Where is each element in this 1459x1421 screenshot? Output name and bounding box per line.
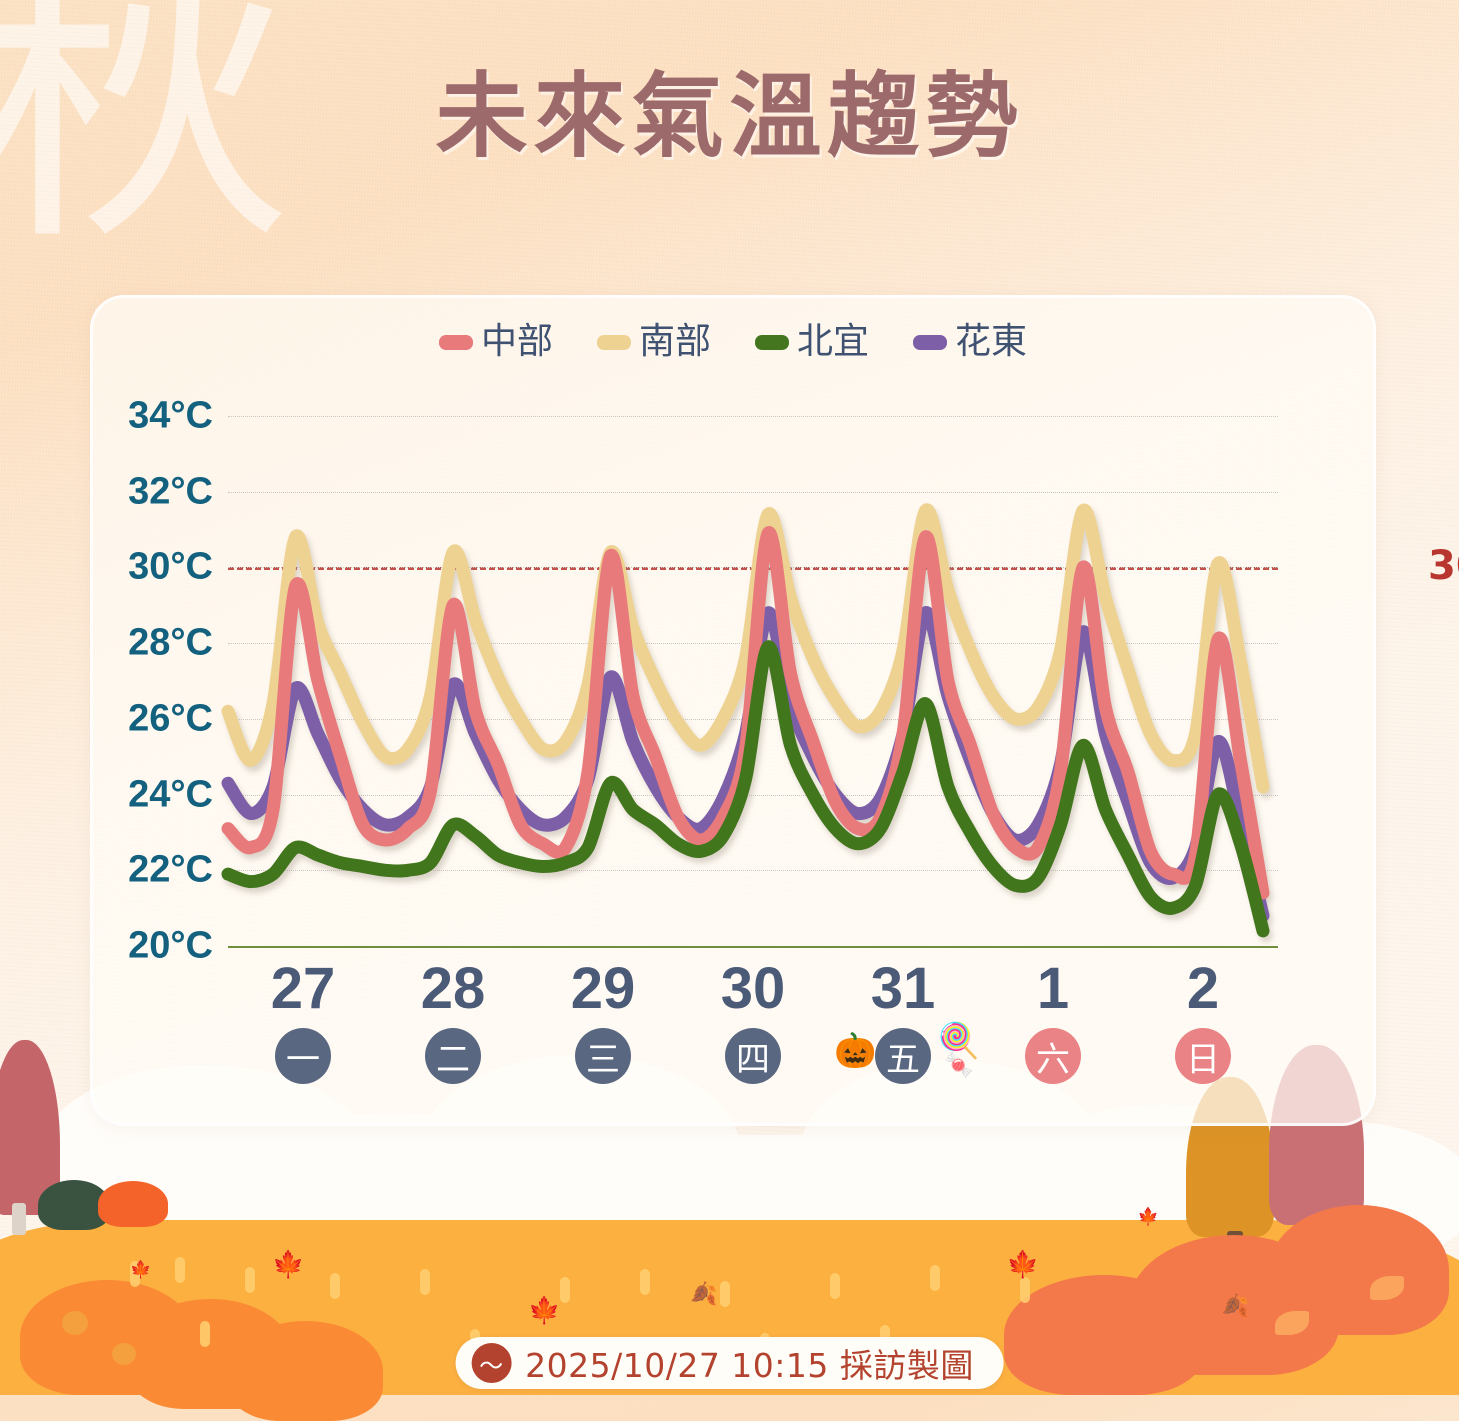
legend-item-0[interactable]: 中部	[439, 324, 553, 360]
y-axis-tick-34: 34°C	[128, 395, 213, 438]
cloud-shape	[1000, 1105, 1330, 1265]
weekday-badge: 六	[1025, 1028, 1081, 1084]
leaf-speck	[1275, 1311, 1309, 1335]
legend-swatch-icon	[439, 335, 473, 350]
legend-swatch-icon	[755, 335, 789, 350]
footer-timestamp: 2025/10/27 10:15 採訪製圖	[525, 1339, 974, 1387]
tree-trunk	[12, 1203, 26, 1235]
x-axis-baseline	[228, 946, 1278, 948]
weekday-badge-wrap: 一	[228, 1020, 378, 1084]
candy-icon: 🍬	[944, 1054, 974, 1078]
plot-area: 30℃	[228, 416, 1278, 946]
x-axis-day-31[interactable]: 31🎃五🍭🍬	[828, 958, 978, 1084]
x-axis-day-number: 27	[228, 958, 378, 1020]
grass-stroke	[560, 1277, 570, 1303]
cwa-logo-icon: 〜	[471, 1343, 511, 1383]
legend-label: 中部	[481, 324, 553, 360]
x-axis-day-number: 1	[978, 958, 1128, 1020]
tree-trunk	[1227, 1231, 1243, 1265]
bush-orange	[98, 1181, 168, 1227]
y-axis-tick-22: 22°C	[128, 849, 213, 892]
weekday-badge-wrap: 日	[1128, 1020, 1278, 1084]
maple-leaf-icon: 🍁	[528, 1297, 560, 1323]
grass-stroke	[1020, 1277, 1030, 1303]
legend-label: 南部	[639, 324, 711, 360]
legend-item-3[interactable]: 花東	[913, 324, 1027, 360]
weekday-badge-wrap: 🎃五🍭🍬	[828, 1020, 978, 1084]
grass-stroke	[245, 1267, 255, 1293]
maple-leaf-icon: 🍁	[1138, 1204, 1159, 1230]
bush-green	[38, 1180, 110, 1230]
weekday-badge-wrap: 四	[678, 1020, 828, 1084]
maple-leaf-icon: 🍁	[272, 1251, 304, 1277]
x-axis-day-29[interactable]: 29三	[528, 958, 678, 1084]
weekday-badge-wrap: 三	[528, 1020, 678, 1084]
x-axis-day-28[interactable]: 28二	[378, 958, 528, 1084]
legend-label: 北宜	[797, 324, 869, 360]
tree-maroon	[0, 1040, 60, 1215]
leaf-speck	[1370, 1276, 1404, 1300]
grass-stroke	[830, 1273, 840, 1299]
x-axis-day-27[interactable]: 27一	[228, 958, 378, 1084]
legend-swatch-icon	[913, 335, 947, 350]
grass-stroke	[720, 1281, 730, 1307]
weekday-badge: 一	[275, 1028, 331, 1084]
weekday-badge: 五	[875, 1028, 931, 1084]
grass-stroke	[930, 1265, 940, 1291]
grass-stroke	[130, 1261, 140, 1287]
footer-badge: 〜 2025/10/27 10:15 採訪製圖	[455, 1337, 1004, 1389]
weekday-badge: 三	[575, 1028, 631, 1084]
cloud-shape	[260, 1135, 980, 1275]
foliage-mound	[228, 1321, 383, 1421]
weekday-badge-wrap: 二	[378, 1020, 528, 1084]
foliage-mound	[1269, 1205, 1449, 1335]
foliage-mound	[1129, 1235, 1339, 1375]
y-axis-tick-30: 30°C	[128, 546, 213, 589]
cloud-shape	[1180, 1120, 1459, 1270]
reference-line-label: 30℃	[1428, 544, 1459, 590]
ginkgo-leaf-icon: 🍂	[690, 1283, 717, 1305]
x-axis-day-number: 30	[678, 958, 828, 1020]
chart-card: 中部南部北宜花東 34°C32°C30°C28°C26°C24°C22°C20°…	[90, 295, 1376, 1126]
y-axis-tick-28: 28°C	[128, 622, 213, 665]
x-axis-day-1[interactable]: 1六	[978, 958, 1128, 1084]
foliage-mound	[1004, 1275, 1204, 1395]
x-axis: 27一28二29三30四31🎃五🍭🍬1六2日	[228, 958, 1278, 1108]
x-axis-day-number: 29	[528, 958, 678, 1020]
legend-swatch-icon	[597, 335, 631, 350]
leaf-speck	[62, 1311, 88, 1335]
legend-item-2[interactable]: 北宜	[755, 324, 869, 360]
grass-stroke	[200, 1321, 210, 1347]
page-title: 未來氣溫趨勢	[0, 42, 1459, 175]
weekday-badge: 二	[425, 1028, 481, 1084]
legend-item-1[interactable]: 南部	[597, 324, 711, 360]
legend-label: 花東	[955, 324, 1027, 360]
foliage-mound	[20, 1280, 195, 1395]
x-axis-day-30[interactable]: 30四	[678, 958, 828, 1084]
x-axis-day-number: 28	[378, 958, 528, 1020]
ginkgo-leaf-icon: 🍂	[1222, 1295, 1249, 1317]
cloud-shape	[150, 1115, 570, 1265]
maple-leaf-icon: 🍁	[1007, 1251, 1039, 1277]
x-axis-day-2[interactable]: 2日	[1128, 958, 1278, 1084]
weekday-badge: 四	[725, 1028, 781, 1084]
leaf-speck	[112, 1343, 136, 1365]
maple-leaf-icon: 🍁	[130, 1257, 151, 1283]
y-axis-tick-24: 24°C	[128, 773, 213, 816]
tree-trunk	[1317, 1217, 1331, 1249]
grass-stroke	[640, 1269, 650, 1295]
y-axis-tick-26: 26°C	[128, 697, 213, 740]
weekday-badge: 日	[1175, 1028, 1231, 1084]
pumpkin-icon: 🎃	[834, 1034, 876, 1068]
y-axis-labels: 34°C32°C30°C28°C26°C24°C22°C20°C	[93, 416, 213, 946]
x-axis-day-number: 2	[1128, 958, 1278, 1020]
grass-stroke	[420, 1269, 430, 1295]
chart-legend: 中部南部北宜花東	[93, 324, 1373, 360]
grass-stroke	[175, 1257, 185, 1283]
x-axis-day-number: 31	[828, 958, 978, 1020]
weekday-badge-wrap: 六	[978, 1020, 1128, 1084]
y-axis-tick-20: 20°C	[128, 925, 213, 968]
foliage-mound	[128, 1299, 293, 1409]
temperature-curves	[228, 416, 1278, 946]
grass-stroke	[330, 1273, 340, 1299]
y-axis-tick-32: 32°C	[128, 470, 213, 513]
